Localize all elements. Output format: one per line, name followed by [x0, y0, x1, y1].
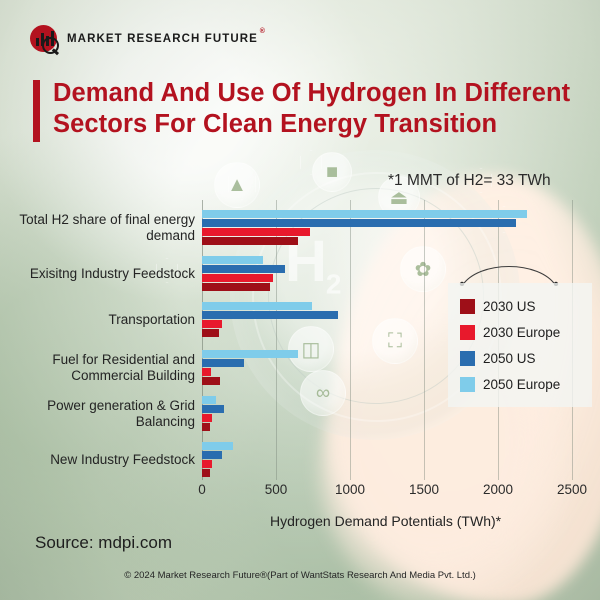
- title-text: Demand And Use Of Hydrogen In Different …: [53, 78, 593, 142]
- legend-label: 2030 Europe: [483, 325, 560, 340]
- infographic-root: H2 ▲ ■ ⏏ ✿ ⛶ ◫ ∞ MARKET RESEARCH FUTURE …: [0, 0, 600, 600]
- gridline: [350, 200, 351, 480]
- category-label: Transportation: [10, 312, 195, 328]
- bar[interactable]: [202, 256, 263, 264]
- bar[interactable]: [202, 469, 210, 477]
- bar[interactable]: [202, 423, 210, 431]
- registered-mark: ®: [260, 28, 266, 35]
- bar[interactable]: [202, 329, 219, 337]
- bar[interactable]: [202, 377, 220, 385]
- bar[interactable]: [202, 311, 338, 319]
- bar[interactable]: [202, 283, 270, 291]
- category-label: Power generation & Grid Balancing: [10, 398, 195, 430]
- brand-name: MARKET RESEARCH FUTURE ®: [67, 33, 258, 45]
- x-tick-label: 500: [265, 482, 288, 497]
- bar[interactable]: [202, 210, 527, 218]
- legend-label: 2050 US: [483, 351, 536, 366]
- x-tick-label: 0: [198, 482, 206, 497]
- category-label: Fuel for Residential and Commercial Buil…: [10, 352, 195, 384]
- legend-item[interactable]: 2050 US: [460, 345, 582, 371]
- legend-swatch: [460, 299, 475, 314]
- title-accent-bar: [33, 80, 40, 142]
- x-tick-label: 1000: [335, 482, 365, 497]
- category-label: New Industry Feedstock: [10, 452, 195, 468]
- truck-icon: ■: [312, 152, 352, 192]
- brand-logo[interactable]: MARKET RESEARCH FUTURE ®: [30, 24, 258, 54]
- gridline: [424, 200, 425, 480]
- bar[interactable]: [202, 228, 310, 236]
- bar[interactable]: [202, 274, 273, 282]
- bar[interactable]: [202, 442, 233, 450]
- bar[interactable]: [202, 405, 224, 413]
- bar[interactable]: [202, 414, 212, 422]
- legend-swatch: [460, 351, 475, 366]
- bar[interactable]: [202, 451, 222, 459]
- category-label: Exisitng Industry Feedstock: [10, 266, 195, 282]
- source-label: Source: mdpi.com: [35, 533, 172, 553]
- bar[interactable]: [202, 359, 244, 367]
- bar[interactable]: [202, 237, 298, 245]
- x-tick-label: 2500: [557, 482, 587, 497]
- bar[interactable]: [202, 350, 298, 358]
- x-tick-label: 2000: [483, 482, 513, 497]
- bar[interactable]: [202, 265, 285, 273]
- bar[interactable]: [202, 460, 212, 468]
- category-label: Total H2 share of final energy demand: [10, 212, 195, 244]
- copyright-notice: © 2024 Market Research Future®(Part of W…: [0, 570, 600, 581]
- legend-label: 2030 US: [483, 299, 536, 314]
- bar[interactable]: [202, 368, 211, 376]
- x-axis-tick-labels: 05001000150020002500: [202, 482, 600, 502]
- legend-swatch: [460, 325, 475, 340]
- unit-note: *1 MMT of H2= 33 TWh: [388, 172, 551, 190]
- page-title: Demand And Use Of Hydrogen In Different …: [33, 78, 593, 142]
- logo-mark-icon: [30, 24, 60, 54]
- legend-item[interactable]: 2050 Europe: [460, 371, 582, 397]
- bar[interactable]: [202, 320, 222, 328]
- legend-item[interactable]: 2030 US: [460, 293, 582, 319]
- brand-name-text: MARKET RESEARCH FUTURE: [67, 33, 258, 45]
- bar[interactable]: [202, 302, 312, 310]
- bar[interactable]: [202, 219, 516, 227]
- category-axis-labels: Total H2 share of final energy demandExi…: [10, 200, 195, 470]
- legend-label: 2050 Europe: [483, 377, 560, 392]
- x-axis-title: Hydrogen Demand Potentials (TWh)*: [270, 513, 501, 529]
- legend-swatch: [460, 377, 475, 392]
- x-tick-label: 1500: [409, 482, 439, 497]
- legend-item[interactable]: 2030 Europe: [460, 319, 582, 345]
- chart-legend[interactable]: 2030 US2030 Europe2050 US2050 Europe: [448, 283, 592, 407]
- bar[interactable]: [202, 396, 216, 404]
